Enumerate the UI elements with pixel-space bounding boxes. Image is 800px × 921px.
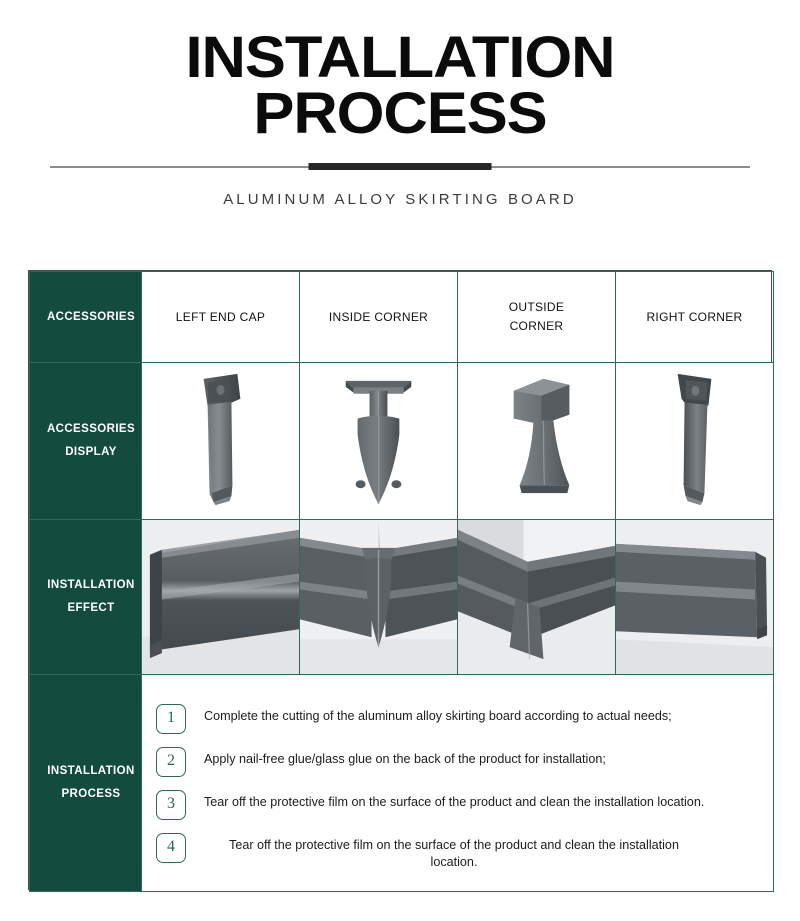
page-title-line-2: PROCESS xyxy=(0,86,800,142)
page-subtitle: ALUMINUM ALLOY SKIRTING BOARD xyxy=(0,191,800,208)
row-label-text: ACCESSORIES xyxy=(47,311,135,323)
row-label-text-line1: INSTALLATION xyxy=(47,765,134,777)
cell-skirting-straight-photo xyxy=(142,520,300,675)
step-text: Tear off the protective film on the surf… xyxy=(204,833,704,871)
step-text: Tear off the protective film on the surf… xyxy=(204,790,704,811)
list-item: 4 Tear off the protective film on the su… xyxy=(156,833,759,871)
outside-corner-part-icon xyxy=(458,363,615,519)
page-title-line-1: INSTALLATION xyxy=(0,30,800,86)
header-cell-right-corner: RIGHT CORNER xyxy=(616,272,774,363)
cell-inside-corner-part xyxy=(300,363,458,520)
header-cell-label: INSIDE CORNER xyxy=(329,310,428,324)
step-text: Complete the cutting of the aluminum all… xyxy=(204,704,672,725)
spec-table-container: ACCESSORIES LEFT END CAP INSIDE CORNER O… xyxy=(28,270,772,890)
cell-installation-steps: 1 Complete the cutting of the aluminum a… xyxy=(142,675,774,892)
page-header: INSTALLATION PROCESS ALUMINUM ALLOY SKIR… xyxy=(0,0,800,208)
cell-left-end-cap-part xyxy=(142,363,300,520)
installation-steps-list: 1 Complete the cutting of the aluminum a… xyxy=(142,686,773,881)
header-cell-label: LEFT END CAP xyxy=(176,310,265,324)
step-number-badge: 4 xyxy=(156,833,186,863)
step-number-badge: 3 xyxy=(156,790,186,820)
list-item: 3 Tear off the protective film on the su… xyxy=(156,790,759,820)
skirting-end-cap-photo-icon xyxy=(616,520,773,674)
table-row-installation-process: INSTALLATION PROCESS 1 Complete the cutt… xyxy=(30,675,774,892)
left-end-cap-part-icon xyxy=(142,363,299,519)
header-cell-inside-corner: INSIDE CORNER xyxy=(300,272,458,363)
cell-right-corner-part xyxy=(616,363,774,520)
cell-skirting-end-cap-photo xyxy=(616,520,774,675)
list-item: 1 Complete the cutting of the aluminum a… xyxy=(156,704,759,734)
row-label-text-line2: DISPLAY xyxy=(41,441,141,464)
table-row-accessories-display: ACCESSORIES DISPLAY xyxy=(30,363,774,520)
header-cell-left-end-cap: LEFT END CAP xyxy=(142,272,300,363)
row-label-text-line2: EFFECT xyxy=(41,597,141,620)
row-label-text-line1: ACCESSORIES xyxy=(47,423,135,435)
cell-skirting-outside-corner-photo xyxy=(458,520,616,675)
table-row-installation-effect: INSTALLATION EFFECT xyxy=(30,520,774,675)
header-cell-label-line1: OUTSIDE xyxy=(509,300,564,314)
spec-table: ACCESSORIES LEFT END CAP INSIDE CORNER O… xyxy=(29,271,774,892)
row-label-accessories: ACCESSORIES xyxy=(30,272,142,363)
cell-skirting-inside-corner-photo xyxy=(300,520,458,675)
row-label-text-line1: INSTALLATION xyxy=(47,579,134,591)
list-item: 2 Apply nail-free glue/glass glue on the… xyxy=(156,747,759,777)
step-number-badge: 1 xyxy=(156,704,186,734)
cell-outside-corner-part xyxy=(458,363,616,520)
row-label-text-line2: PROCESS xyxy=(41,783,141,806)
skirting-outside-corner-photo-icon xyxy=(458,520,615,674)
row-label-installation-effect: INSTALLATION EFFECT xyxy=(30,520,142,675)
divider-thick-accent xyxy=(309,163,492,170)
row-label-accessories-display: ACCESSORIES DISPLAY xyxy=(30,363,142,520)
skirting-straight-photo-icon xyxy=(142,520,299,674)
inside-corner-part-icon xyxy=(300,363,457,519)
row-label-installation-process: INSTALLATION PROCESS xyxy=(30,675,142,892)
right-corner-part-icon xyxy=(616,363,773,519)
header-cell-label-line2: CORNER xyxy=(510,319,564,333)
step-number-badge: 2 xyxy=(156,747,186,777)
step-text: Apply nail-free glue/glass glue on the b… xyxy=(204,747,606,768)
table-row-accessories-names: ACCESSORIES LEFT END CAP INSIDE CORNER O… xyxy=(30,272,774,363)
skirting-inside-corner-photo-icon xyxy=(300,520,457,674)
header-cell-outside-corner: OUTSIDE CORNER xyxy=(458,272,616,363)
header-cell-label: RIGHT CORNER xyxy=(646,310,742,324)
title-divider xyxy=(40,160,760,174)
